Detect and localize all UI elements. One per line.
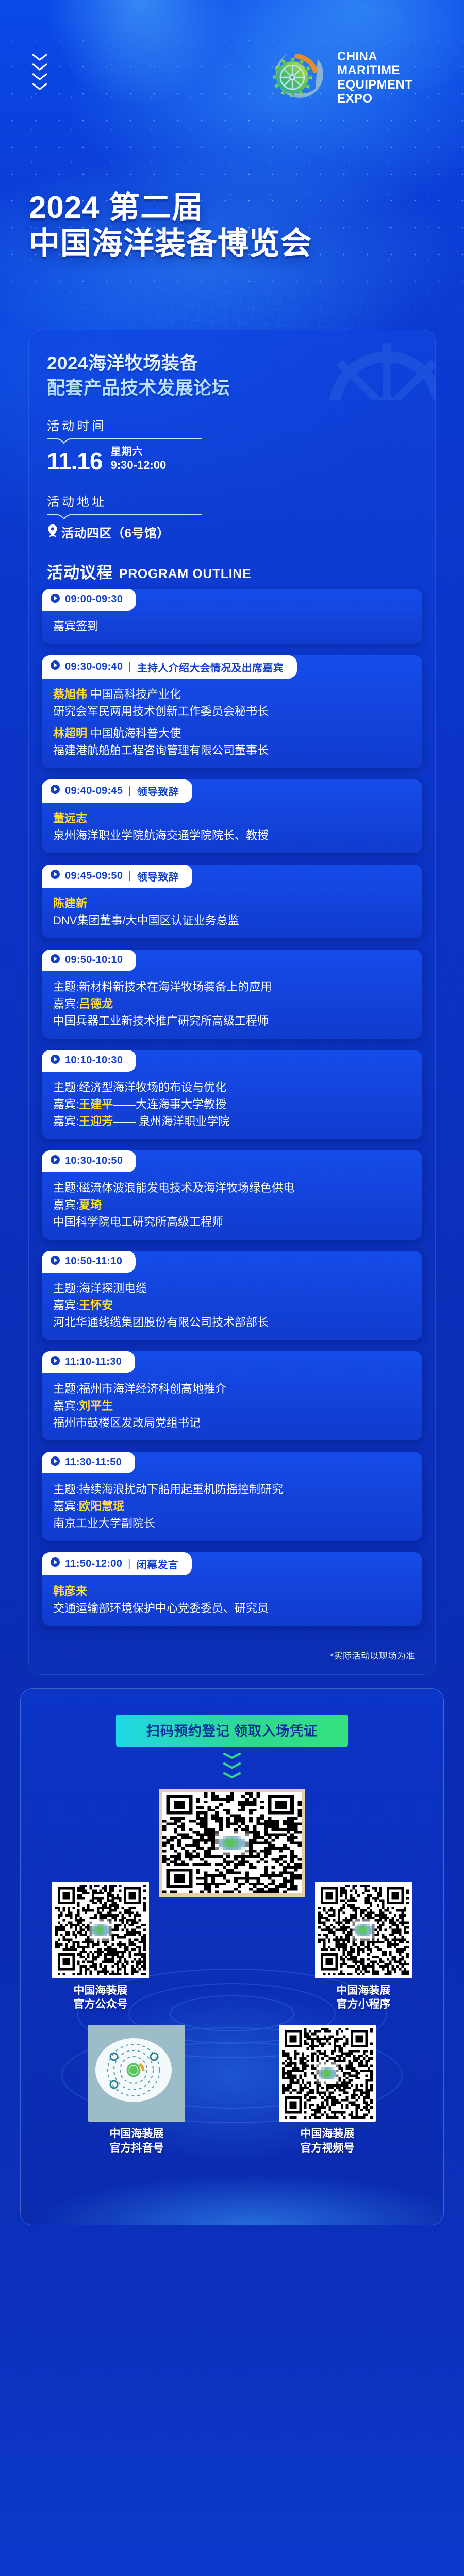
event-address-block: 活动地址 活动四区（6号馆） <box>28 476 436 544</box>
agenda-item-body: 主题:福州市海洋经济科创高地推介嘉宾:刘平生福州市鼓楼区发改局党组书记 <box>42 1373 422 1431</box>
location-pin-icon <box>47 524 58 540</box>
agenda-item-body: 董远志泉州海洋职业学院航海交通学院院长、教授 <box>42 803 422 844</box>
speaker-name: 蔡旭伟 <box>53 688 87 701</box>
event-date-row: 11.16 星期六 9:30-12:00 <box>47 446 417 473</box>
agenda-line: 蔡旭伟 中国高科技产业化 <box>53 686 411 703</box>
banner-chevrons <box>222 1753 242 1782</box>
chevron-down-icon <box>223 1762 241 1772</box>
play-circle-icon <box>50 1557 60 1570</box>
agenda-item-body: 主题:持续海浪扰动下船用起重机防摇控制研究嘉宾:欧阳慧珉南京工业大学副院长 <box>42 1473 422 1532</box>
agenda-session-title: 领导致辞 <box>137 784 179 799</box>
program-title-en: PROGRAM OUTLINE <box>119 567 251 582</box>
hero-title-line-2: 中国海洋装备博览会 <box>29 226 312 262</box>
program-header: 活动议程 PROGRAM OUTLINE <box>28 544 436 586</box>
agenda-time: 09:40-09:45 <box>65 785 123 797</box>
registration-qr-code[interactable] <box>159 1789 305 1897</box>
speaker-name: 欧阳慧珉 <box>79 1500 124 1513</box>
event-date: 11.16 <box>47 449 103 473</box>
play-circle-icon <box>50 1255 60 1268</box>
agenda-time-pill: 09:50-10:10 <box>42 950 136 971</box>
agenda-time: 10:30-10:50 <box>65 1155 123 1167</box>
pill-separator: | <box>128 661 131 673</box>
registration-banner: 扫码预约登记 领取入场凭证 <box>116 1715 348 1747</box>
qr-caption-line-2: 官方公众号 <box>74 1997 128 2011</box>
chevron-down-icon <box>223 1772 241 1782</box>
wechat-official-account-qr <box>55 1885 146 1975</box>
agenda-time-pill: 10:30-10:50 <box>42 1150 136 1172</box>
agenda-time-pill: 10:50-11:10 <box>42 1251 136 1273</box>
agenda-item: 10:30-10:50主题:磁流体波浪能发电技术及海洋牧场绿色供电嘉宾:夏琦中国… <box>42 1150 422 1240</box>
agenda-time: 09:00-09:30 <box>65 594 123 605</box>
agenda-line: 主题:福州市海洋经济科创高地推介 <box>53 1380 411 1397</box>
page-title: 2024 第二届 中国海洋装备博览会 <box>29 190 312 261</box>
agenda-time-pill: 10:10-10:30 <box>42 1050 136 1072</box>
logo-line-2: MARITIME <box>337 63 412 77</box>
agenda-line: 主题:持续海浪扰动下船用起重机防摇控制研究 <box>53 1481 411 1498</box>
agenda-line: 嘉宾:欧阳慧珉 <box>53 1498 411 1515</box>
agenda-line: 嘉宾:吕德龙 <box>53 995 411 1012</box>
agenda-item: 11:30-11:50主题:持续海浪扰动下船用起重机防摇控制研究嘉宾:欧阳慧珉南… <box>42 1452 422 1541</box>
agenda-line: 嘉宾:王迎芳—— 泉州海洋职业学院 <box>53 1113 411 1130</box>
logo-line-3: EQUIPMENT <box>337 78 412 92</box>
agenda-time: 09:30-09:40 <box>65 661 123 673</box>
agenda-line: 中国科学院电工研究所高级工程师 <box>53 1213 411 1230</box>
agenda-line: 主题:磁流体波浪能发电技术及海洋牧场绿色供电 <box>53 1179 411 1196</box>
agenda-line: 研究会军民两用技术创新工作委员会秘书长 <box>53 703 411 720</box>
mini-program-qr <box>318 1885 409 1975</box>
event-address-label: 活动地址 <box>47 492 417 510</box>
speaker-name: 韩彦来 <box>53 1585 87 1598</box>
registration-section: 扫码预约登记 领取入场凭证 中国海装展 官方公众号 <box>20 1688 444 2225</box>
program-footnote: *实际活动以现场为准 <box>28 1639 436 1675</box>
chevron-down-icon <box>32 54 47 61</box>
forum-header: 2024海洋牧场装备 配套产品技术发展论坛 <box>28 330 436 400</box>
agenda-item-body: 主题:新材料新技术在海洋牧场装备上的应用嘉宾:吕德龙中国兵器工业新技术推广研究所… <box>42 971 422 1029</box>
poster-page: CHINA MARITIME EQUIPMENT EXPO 2024 第二届 中… <box>0 0 464 2576</box>
logo-wordmark: CHINA MARITIME EQUIPMENT EXPO <box>337 49 412 106</box>
speaker-name: 夏琦 <box>79 1198 102 1211</box>
pill-separator: | <box>128 870 131 882</box>
qr-caption-line-1: 中国海装展 <box>337 1984 391 1997</box>
speaker-name: 林超明 <box>53 727 87 740</box>
douyin-account-qr <box>91 2028 182 2119</box>
speaker-name: 王怀安 <box>79 1299 113 1312</box>
video-channel-qr <box>282 2028 373 2119</box>
play-circle-icon <box>50 869 60 883</box>
forum-title-line-2: 配套产品技术发展论坛 <box>47 376 420 401</box>
agenda-line: 中国兵器工业新技术推广研究所高级工程师 <box>53 1012 411 1029</box>
event-time-label: 活动时间 <box>47 416 417 434</box>
agenda-time-pill: 09:30-09:40|主持人介绍大会情况及出席嘉宾 <box>42 655 297 679</box>
agenda-line: 陈建新 <box>53 895 411 912</box>
agenda-time: 09:45-09:50 <box>65 870 123 882</box>
agenda-line: 福建港航船舶工程咨询管理有限公司董事长 <box>53 742 411 759</box>
agenda-list: 09:00-09:30嘉宾签到09:30-09:40|主持人介绍大会情况及出席嘉… <box>28 586 436 1639</box>
logo-line-1: CHINA <box>337 49 412 63</box>
speaker-name: 王建平 <box>79 1098 113 1111</box>
pill-separator: | <box>128 1558 131 1570</box>
agenda-line: 主题:新材料新技术在海洋牧场装备上的应用 <box>53 978 411 995</box>
bottom-glow <box>21 2132 444 2225</box>
qr-item[interactable]: 中国海装展 官方公众号 <box>36 1882 165 2012</box>
agenda-time-pill: 09:40-09:45|领导致辞 <box>42 779 192 803</box>
qr-caption-line-1: 中国海装展 <box>74 1984 128 1997</box>
agenda-item: 09:45-09:50|领导致辞陈建新DNV集团董事/大中国区认证业务总监 <box>42 865 422 938</box>
expo-logo: CHINA MARITIME EQUIPMENT EXPO <box>268 45 412 110</box>
forum-title: 2024海洋牧场装备 配套产品技术发展论坛 <box>28 346 436 400</box>
agenda-time: 11:10-11:30 <box>65 1356 122 1368</box>
agenda-time-pill: 11:30-11:50 <box>42 1452 135 1473</box>
agenda-item: 09:50-10:10主题:新材料新技术在海洋牧场装备上的应用嘉宾:吕德龙中国兵… <box>42 950 422 1039</box>
chevron-down-icon <box>32 63 47 71</box>
play-circle-icon <box>50 784 60 798</box>
agenda-item-body: 主题:海洋探测电缆嘉宾:王怀安河北华通线缆集团股份有限公司技术部部长 <box>42 1273 422 1331</box>
agenda-item-body: 蔡旭伟 中国高科技产业化研究会军民两用技术创新工作委员会秘书长林超明 中国航海科… <box>42 679 422 759</box>
main-content-card: 2024海洋牧场装备 配套产品技术发展论坛 活动时间 11.16 星期六 9:3… <box>28 330 436 1675</box>
agenda-item: 10:50-11:10主题:海洋探测电缆嘉宾:王怀安河北华通线缆集团股份有限公司… <box>42 1251 422 1340</box>
gear-ship-wheel-logo-icon <box>268 45 330 110</box>
qr-caption-line-2: 官方小程序 <box>337 1997 391 2011</box>
divider-rule <box>47 513 417 521</box>
agenda-time-pill: 09:45-09:50|领导致辞 <box>42 865 192 888</box>
speaker-name: 王迎芳 <box>79 1115 113 1128</box>
agenda-line: 交通运输部环境保护中心党委委员、研究员 <box>53 1600 411 1617</box>
agenda-session-title: 领导致辞 <box>137 869 179 884</box>
event-address: 活动四区（6号馆） <box>61 523 170 541</box>
play-circle-icon <box>50 1355 60 1369</box>
social-qr-grid: 中国海装展 官方公众号 中国海装展 官方小程序 <box>36 1882 428 2155</box>
agenda-item: 09:30-09:40|主持人介绍大会情况及出席嘉宾蔡旭伟 中国高科技产业化研究… <box>42 655 422 768</box>
play-circle-icon <box>50 1456 60 1469</box>
play-circle-icon <box>50 1155 60 1168</box>
qr-pattern <box>162 1792 302 1893</box>
agenda-item-body: 主题:磁流体波浪能发电技术及海洋牧场绿色供电嘉宾:夏琦中国科学院电工研究所高级工… <box>42 1172 422 1230</box>
chevron-down-icon <box>32 83 47 91</box>
event-time-block: 活动时间 11.16 星期六 9:30-12:00 <box>28 400 436 476</box>
agenda-line: 嘉宾:刘平生 <box>53 1397 411 1414</box>
divider-rule <box>47 437 417 445</box>
agenda-line: 嘉宾:夏琦 <box>53 1196 411 1213</box>
hero-title-line-1: 2024 第二届 <box>29 190 312 226</box>
agenda-line: DNV集团董事/大中国区认证业务总监 <box>53 912 411 929</box>
pill-separator: | <box>128 785 131 797</box>
agenda-line-gap <box>53 720 411 725</box>
play-circle-icon <box>50 660 60 673</box>
play-circle-icon <box>50 1054 60 1067</box>
agenda-session-title: 闭幕发言 <box>137 1556 178 1571</box>
agenda-time: 10:50-11:10 <box>65 1256 122 1267</box>
agenda-time: 11:50-12:00 <box>65 1558 122 1570</box>
agenda-item: 11:50-12:00|闭幕发言韩彦来交通运输部环境保护中心党委委员、研究员 <box>42 1552 422 1626</box>
agenda-item: 09:00-09:30嘉宾签到 <box>42 589 422 644</box>
agenda-item: 11:10-11:30主题:福州市海洋经济科创高地推介嘉宾:刘平生福州市鼓楼区发… <box>42 1351 422 1440</box>
play-circle-icon <box>50 593 60 606</box>
agenda-line: 嘉宾签到 <box>53 618 411 635</box>
agenda-line: 主题:经济型海洋牧场的布设与优化 <box>53 1079 411 1096</box>
forum-title-line-1: 2024海洋牧场装备 <box>47 351 420 376</box>
speaker-name: 董远志 <box>53 812 87 825</box>
agenda-line: 福州市鼓楼区发改局党组书记 <box>53 1414 411 1431</box>
agenda-time-pill: 11:10-11:30 <box>42 1351 135 1373</box>
agenda-item-body: 韩彦来交通运输部环境保护中心党委委员、研究员 <box>42 1575 422 1617</box>
event-weekday: 星期六 <box>111 446 167 459</box>
hero-section: CHINA MARITIME EQUIPMENT EXPO 2024 第二届 中… <box>0 0 464 330</box>
agenda-line: 南京工业大学副院长 <box>53 1515 411 1532</box>
play-circle-icon <box>50 954 60 967</box>
event-time-range: 9:30-12:00 <box>111 459 167 472</box>
program-title-cn: 活动议程 <box>47 560 113 583</box>
agenda-time: 10:10-10:30 <box>65 1055 123 1066</box>
agenda-item-body: 嘉宾签到 <box>42 611 422 635</box>
agenda-time: 09:50-10:10 <box>65 954 123 966</box>
agenda-line: 韩彦来 <box>53 1583 411 1600</box>
speaker-name: 吕德龙 <box>79 997 113 1010</box>
speaker-name: 刘平生 <box>79 1399 113 1412</box>
agenda-item-body: 主题:经济型海洋牧场的布设与优化嘉宾:王建平——大连海事大学教授嘉宾:王迎芳——… <box>42 1072 422 1130</box>
scroll-hint-chevrons <box>32 54 47 91</box>
speaker-name: 陈建新 <box>53 897 87 910</box>
agenda-line: 董远志 <box>53 810 411 827</box>
logo-line-4: EXPO <box>337 92 412 106</box>
agenda-item: 09:40-09:45|领导致辞董远志泉州海洋职业学院航海交通学院院长、教授 <box>42 779 422 853</box>
chevron-down-icon <box>32 73 47 81</box>
registration-banner-text: 扫码预约登记 领取入场凭证 <box>146 1721 318 1740</box>
chevron-down-icon <box>223 1753 241 1762</box>
agenda-line: 河北华通线缆集团股份有限公司技术部部长 <box>53 1314 411 1331</box>
agenda-time-pill: 09:00-09:30 <box>42 589 136 611</box>
agenda-time-pill: 11:50-12:00|闭幕发言 <box>42 1552 192 1575</box>
qr-item[interactable]: 中国海装展 官方小程序 <box>299 1882 428 2012</box>
agenda-line: 嘉宾:王怀安 <box>53 1297 411 1314</box>
agenda-line: 嘉宾:王建平——大连海事大学教授 <box>53 1096 411 1113</box>
agenda-item: 10:10-10:30主题:经济型海洋牧场的布设与优化嘉宾:王建平——大连海事大… <box>42 1050 422 1139</box>
agenda-line: 林超明 中国航海科普大使 <box>53 725 411 742</box>
agenda-line: 主题:海洋探测电缆 <box>53 1280 411 1297</box>
agenda-line: 泉州海洋职业学院航海交通学院院长、教授 <box>53 827 411 844</box>
agenda-item-body: 陈建新DNV集团董事/大中国区认证业务总监 <box>42 888 422 929</box>
agenda-time: 11:30-11:50 <box>65 1456 122 1468</box>
agenda-session-title: 主持人介绍大会情况及出席嘉宾 <box>137 659 284 674</box>
